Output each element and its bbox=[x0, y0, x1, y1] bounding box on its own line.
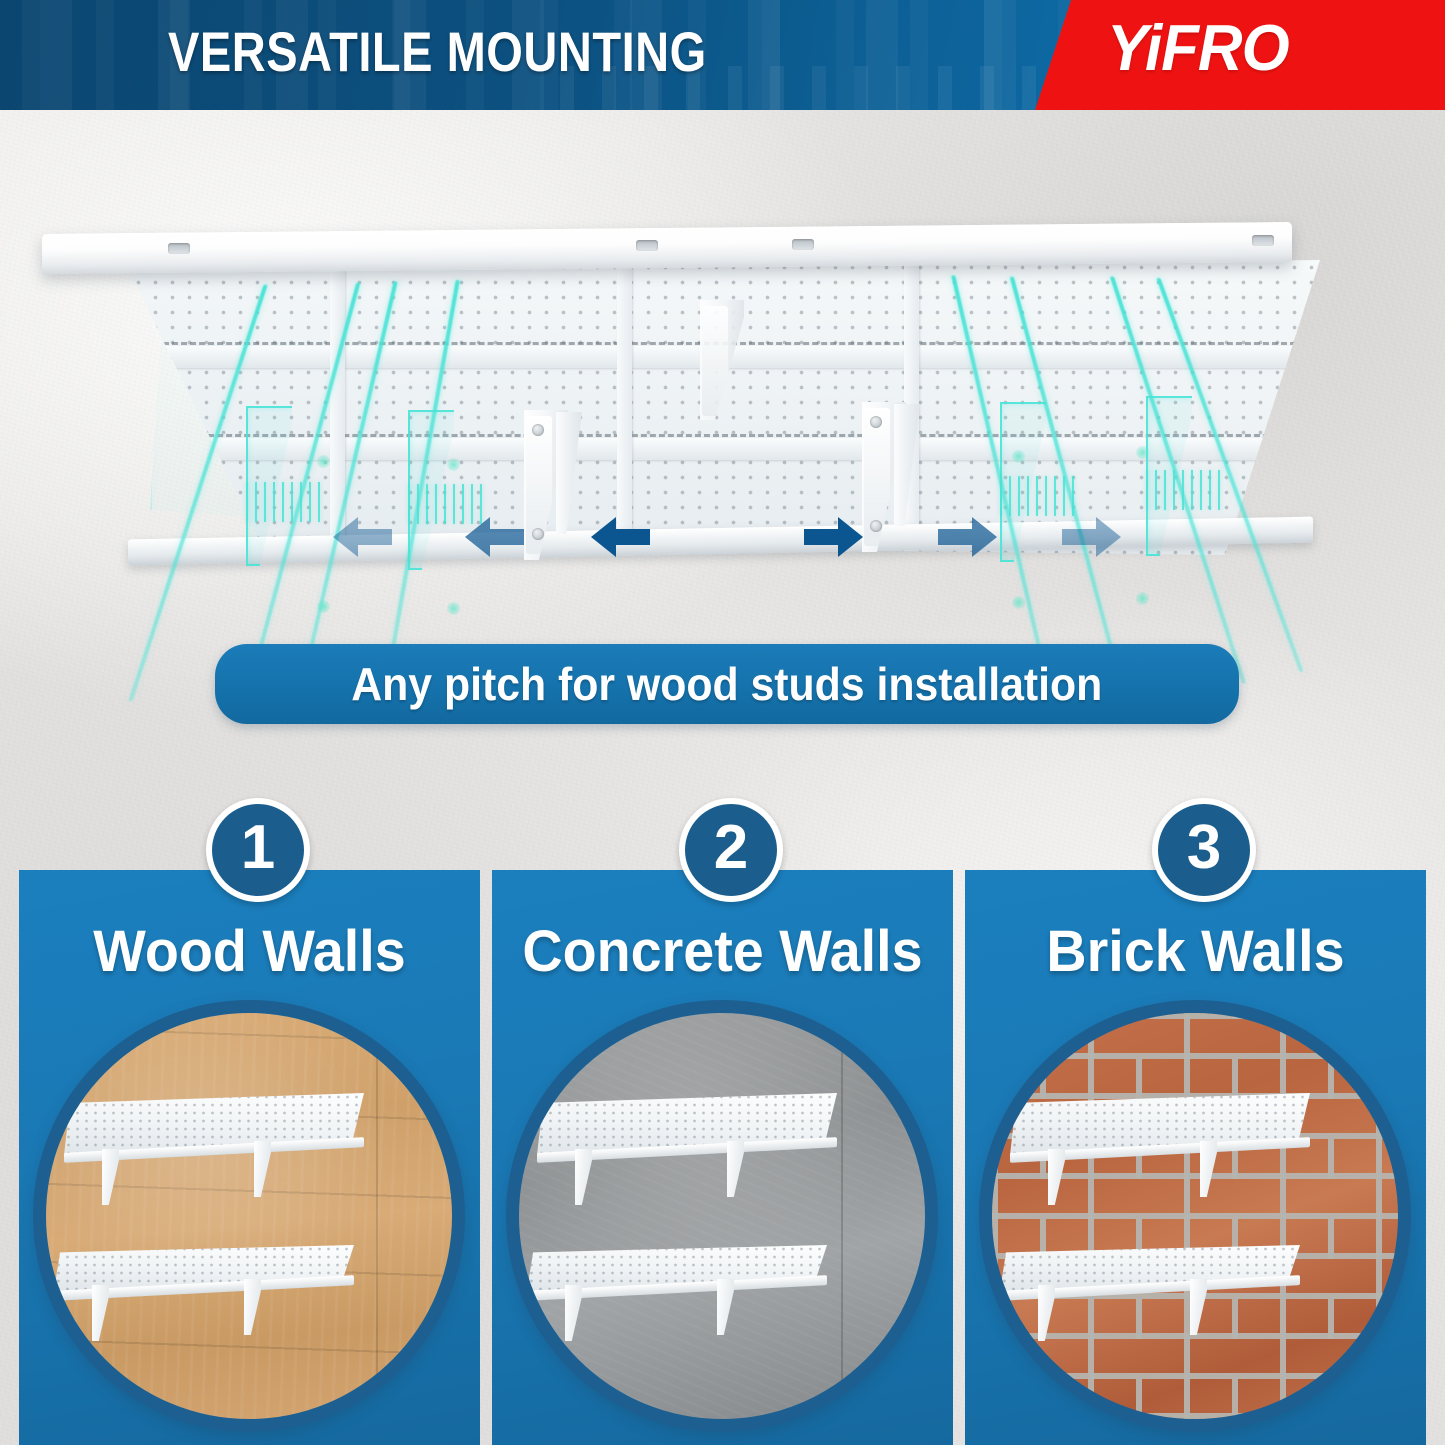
card-number-badge-3: 3 bbox=[1152, 798, 1256, 902]
card-photo-concrete bbox=[506, 1000, 938, 1432]
badge-number: 1 bbox=[241, 817, 275, 879]
concrete-wall-texture bbox=[519, 1013, 925, 1419]
feature-banner-text: Any pitch for wood studs installation bbox=[351, 657, 1102, 711]
wood-wall-texture bbox=[46, 1013, 452, 1419]
card-photo-wood bbox=[33, 1000, 465, 1432]
brand-logo-text: YiFRO bbox=[1107, 10, 1289, 85]
badge-number: 3 bbox=[1187, 817, 1221, 879]
card-photo-brick bbox=[979, 1000, 1411, 1432]
infographic-canvas: VERSATILE MOUNTING YiFRO bbox=[0, 0, 1445, 1445]
brand-logo-panel: YiFRO bbox=[1035, 0, 1445, 110]
page-title: VERSATILE MOUNTING bbox=[168, 19, 707, 84]
card-title: Concrete Walls bbox=[501, 918, 944, 985]
card-title: Wood Walls bbox=[28, 918, 471, 985]
card-title: Brick Walls bbox=[974, 918, 1417, 985]
brick-wall-texture bbox=[992, 1013, 1398, 1419]
card-number-badge-1: 1 bbox=[206, 798, 310, 902]
badge-number: 2 bbox=[714, 817, 748, 879]
card-number-badge-2: 2 bbox=[679, 798, 783, 902]
header-bar: VERSATILE MOUNTING YiFRO bbox=[0, 0, 1445, 110]
feature-banner: Any pitch for wood studs installation bbox=[215, 644, 1239, 724]
